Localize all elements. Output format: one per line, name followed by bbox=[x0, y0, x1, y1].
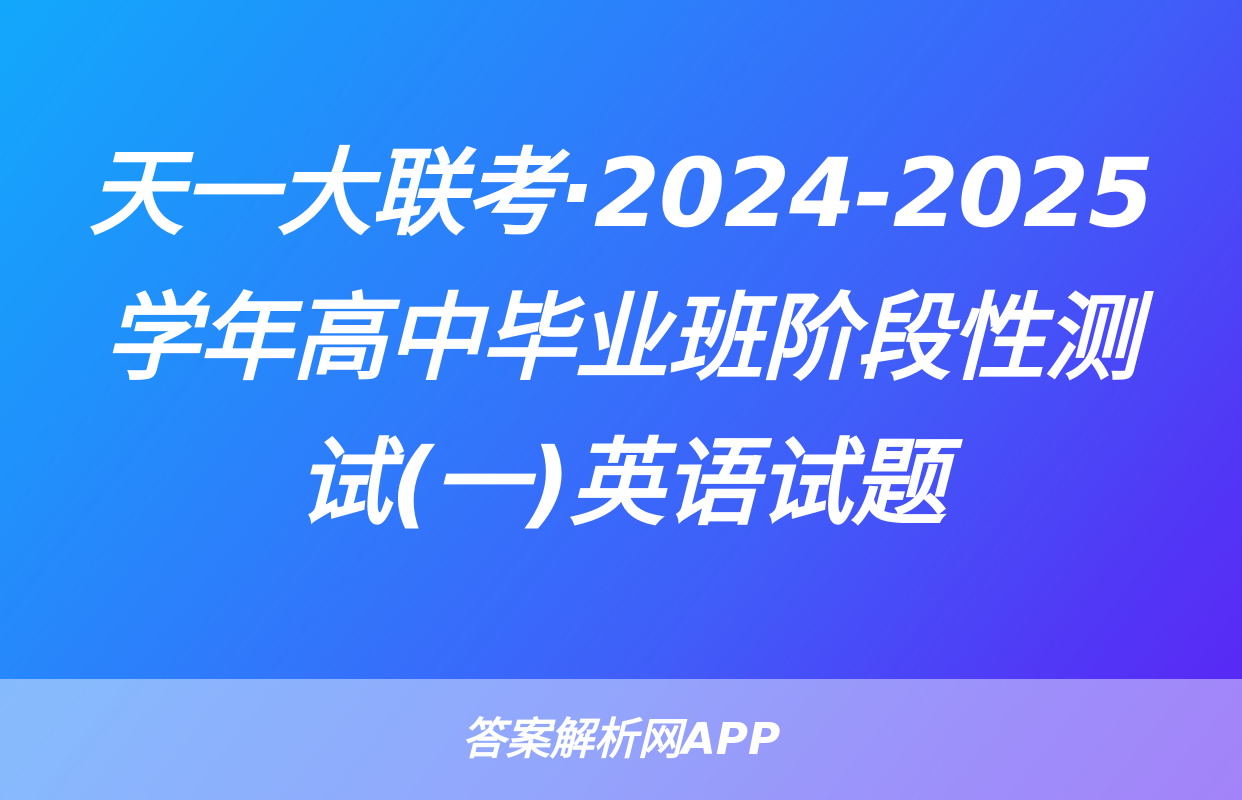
title-hero-section: 天一大联考·2024-2025 学年高中毕业班阶段性测 试(一)英语试题 bbox=[0, 0, 1242, 679]
footer-brand-label: 答案解析网APP bbox=[462, 716, 781, 764]
title-line-2: 学年高中毕业班阶段性测 bbox=[78, 267, 1164, 412]
page-title: 天一大联考·2024-2025 学年高中毕业班阶段性测 试(一)英语试题 bbox=[78, 122, 1164, 557]
title-line-1: 天一大联考·2024-2025 bbox=[78, 122, 1164, 267]
footer-brand-band: 答案解析网APP bbox=[0, 679, 1242, 800]
title-line-3: 试(一)英语试题 bbox=[78, 412, 1164, 557]
exam-cover-poster: 天一大联考·2024-2025 学年高中毕业班阶段性测 试(一)英语试题 答案解… bbox=[0, 0, 1242, 800]
